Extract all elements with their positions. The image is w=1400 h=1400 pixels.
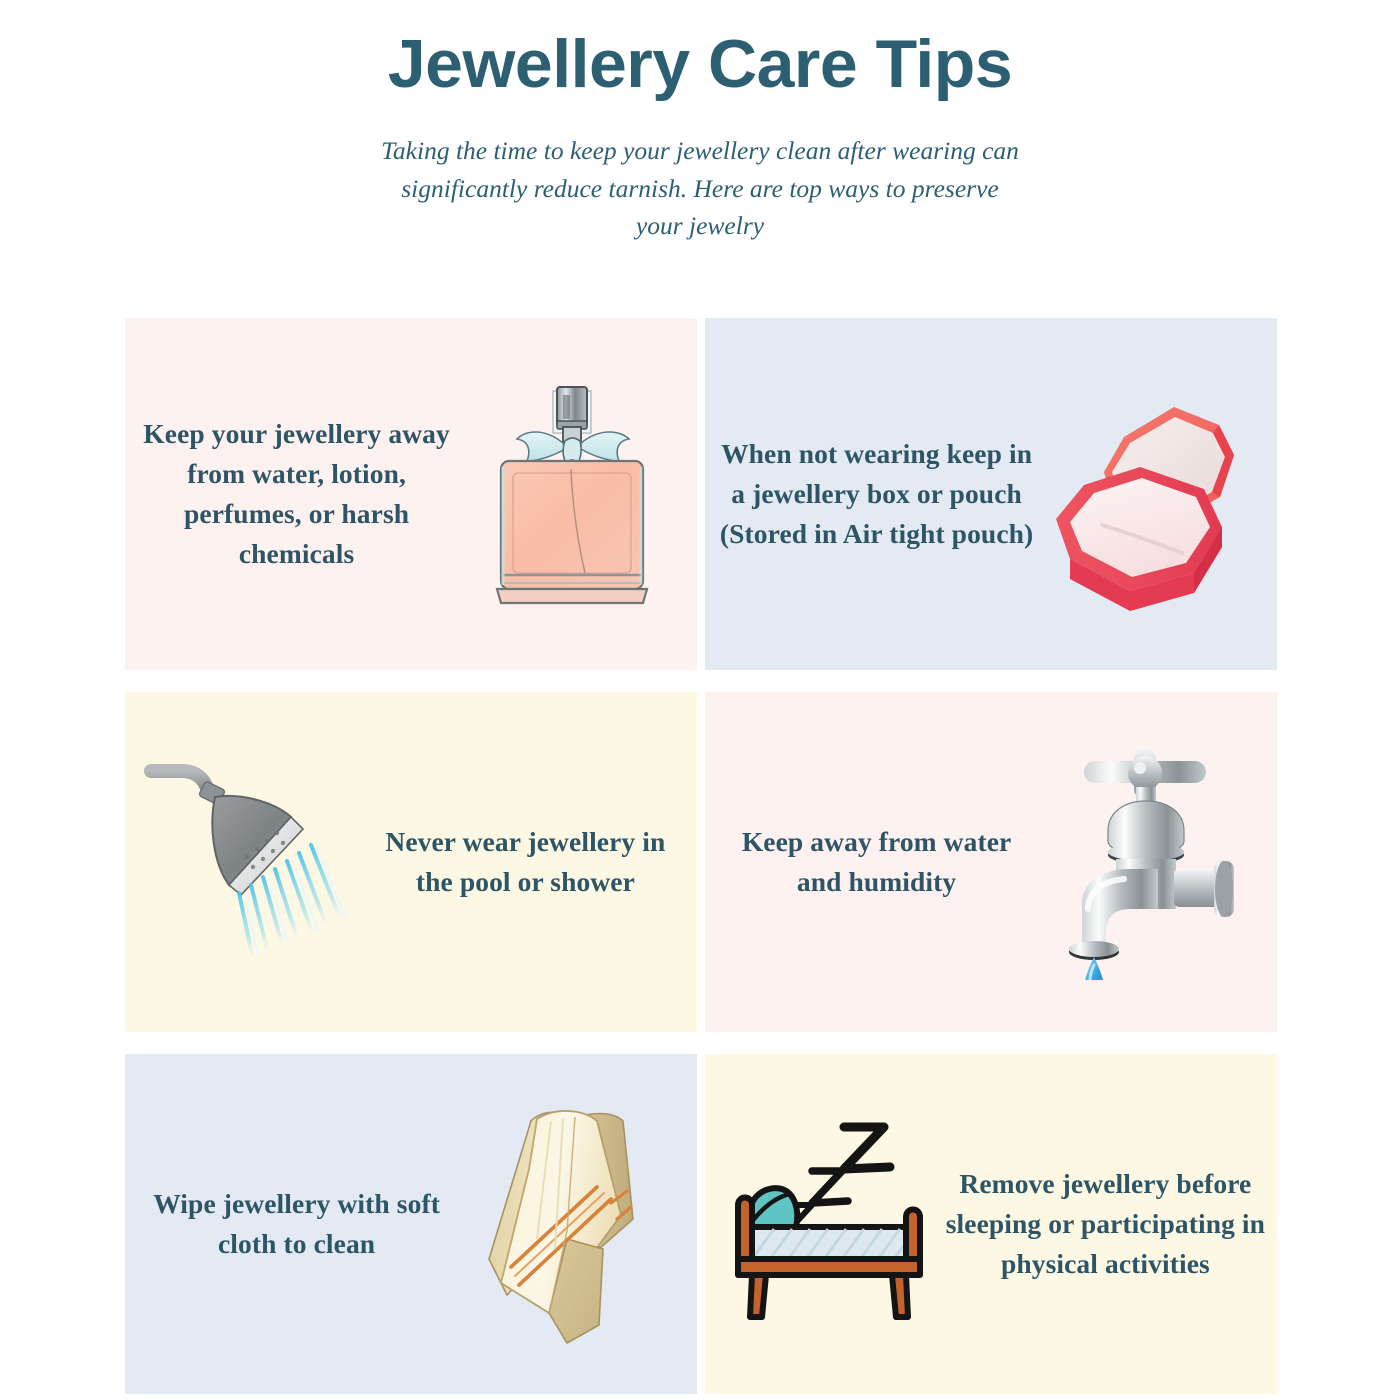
- tip-card-sleep-label: Remove jewellery before sleeping or part…: [945, 1164, 1265, 1284]
- ring-box-icon: [1025, 318, 1277, 670]
- tip-card-wipe: Wipe jewellery with soft cloth to clean: [125, 1054, 697, 1394]
- shower-head-icon: [125, 692, 377, 1032]
- tip-card-sleep: Remove jewellery before sleeping or part…: [705, 1054, 1277, 1394]
- polishing-cloth-icon: [445, 1054, 697, 1394]
- header: Jewellery Care Tips Taking the time to k…: [0, 0, 1400, 245]
- tip-card-wipe-label: Wipe jewellery with soft cloth to clean: [136, 1184, 456, 1264]
- page-title: Jewellery Care Tips: [0, 26, 1400, 102]
- tip-card-shower: Never wear jewellery in the pool or show…: [125, 692, 697, 1032]
- tip-card-perfume-label: Keep your jewellery away from water, lot…: [136, 414, 456, 574]
- tip-card-humidity-label: Keep away from water and humidity: [716, 822, 1036, 902]
- page-subtitle: Taking the time to keep your jewellery c…: [380, 132, 1020, 244]
- tips-grid: Keep your jewellery away from water, lot…: [125, 318, 1277, 1394]
- tip-card-storage-label: When not wearing keep in a jewellery box…: [716, 434, 1036, 554]
- bed-sleeping-icon: [705, 1054, 957, 1394]
- perfume-bottle-icon: [445, 318, 697, 670]
- tip-card-perfume: Keep your jewellery away from water, lot…: [125, 318, 697, 670]
- tip-card-storage: When not wearing keep in a jewellery box…: [705, 318, 1277, 670]
- infographic-page: Jewellery Care Tips Taking the time to k…: [0, 0, 1400, 1400]
- tip-card-humidity: Keep away from water and humidity: [705, 692, 1277, 1032]
- faucet-drip-icon: [1025, 692, 1277, 1032]
- tip-card-shower-label: Never wear jewellery in the pool or show…: [365, 822, 685, 902]
